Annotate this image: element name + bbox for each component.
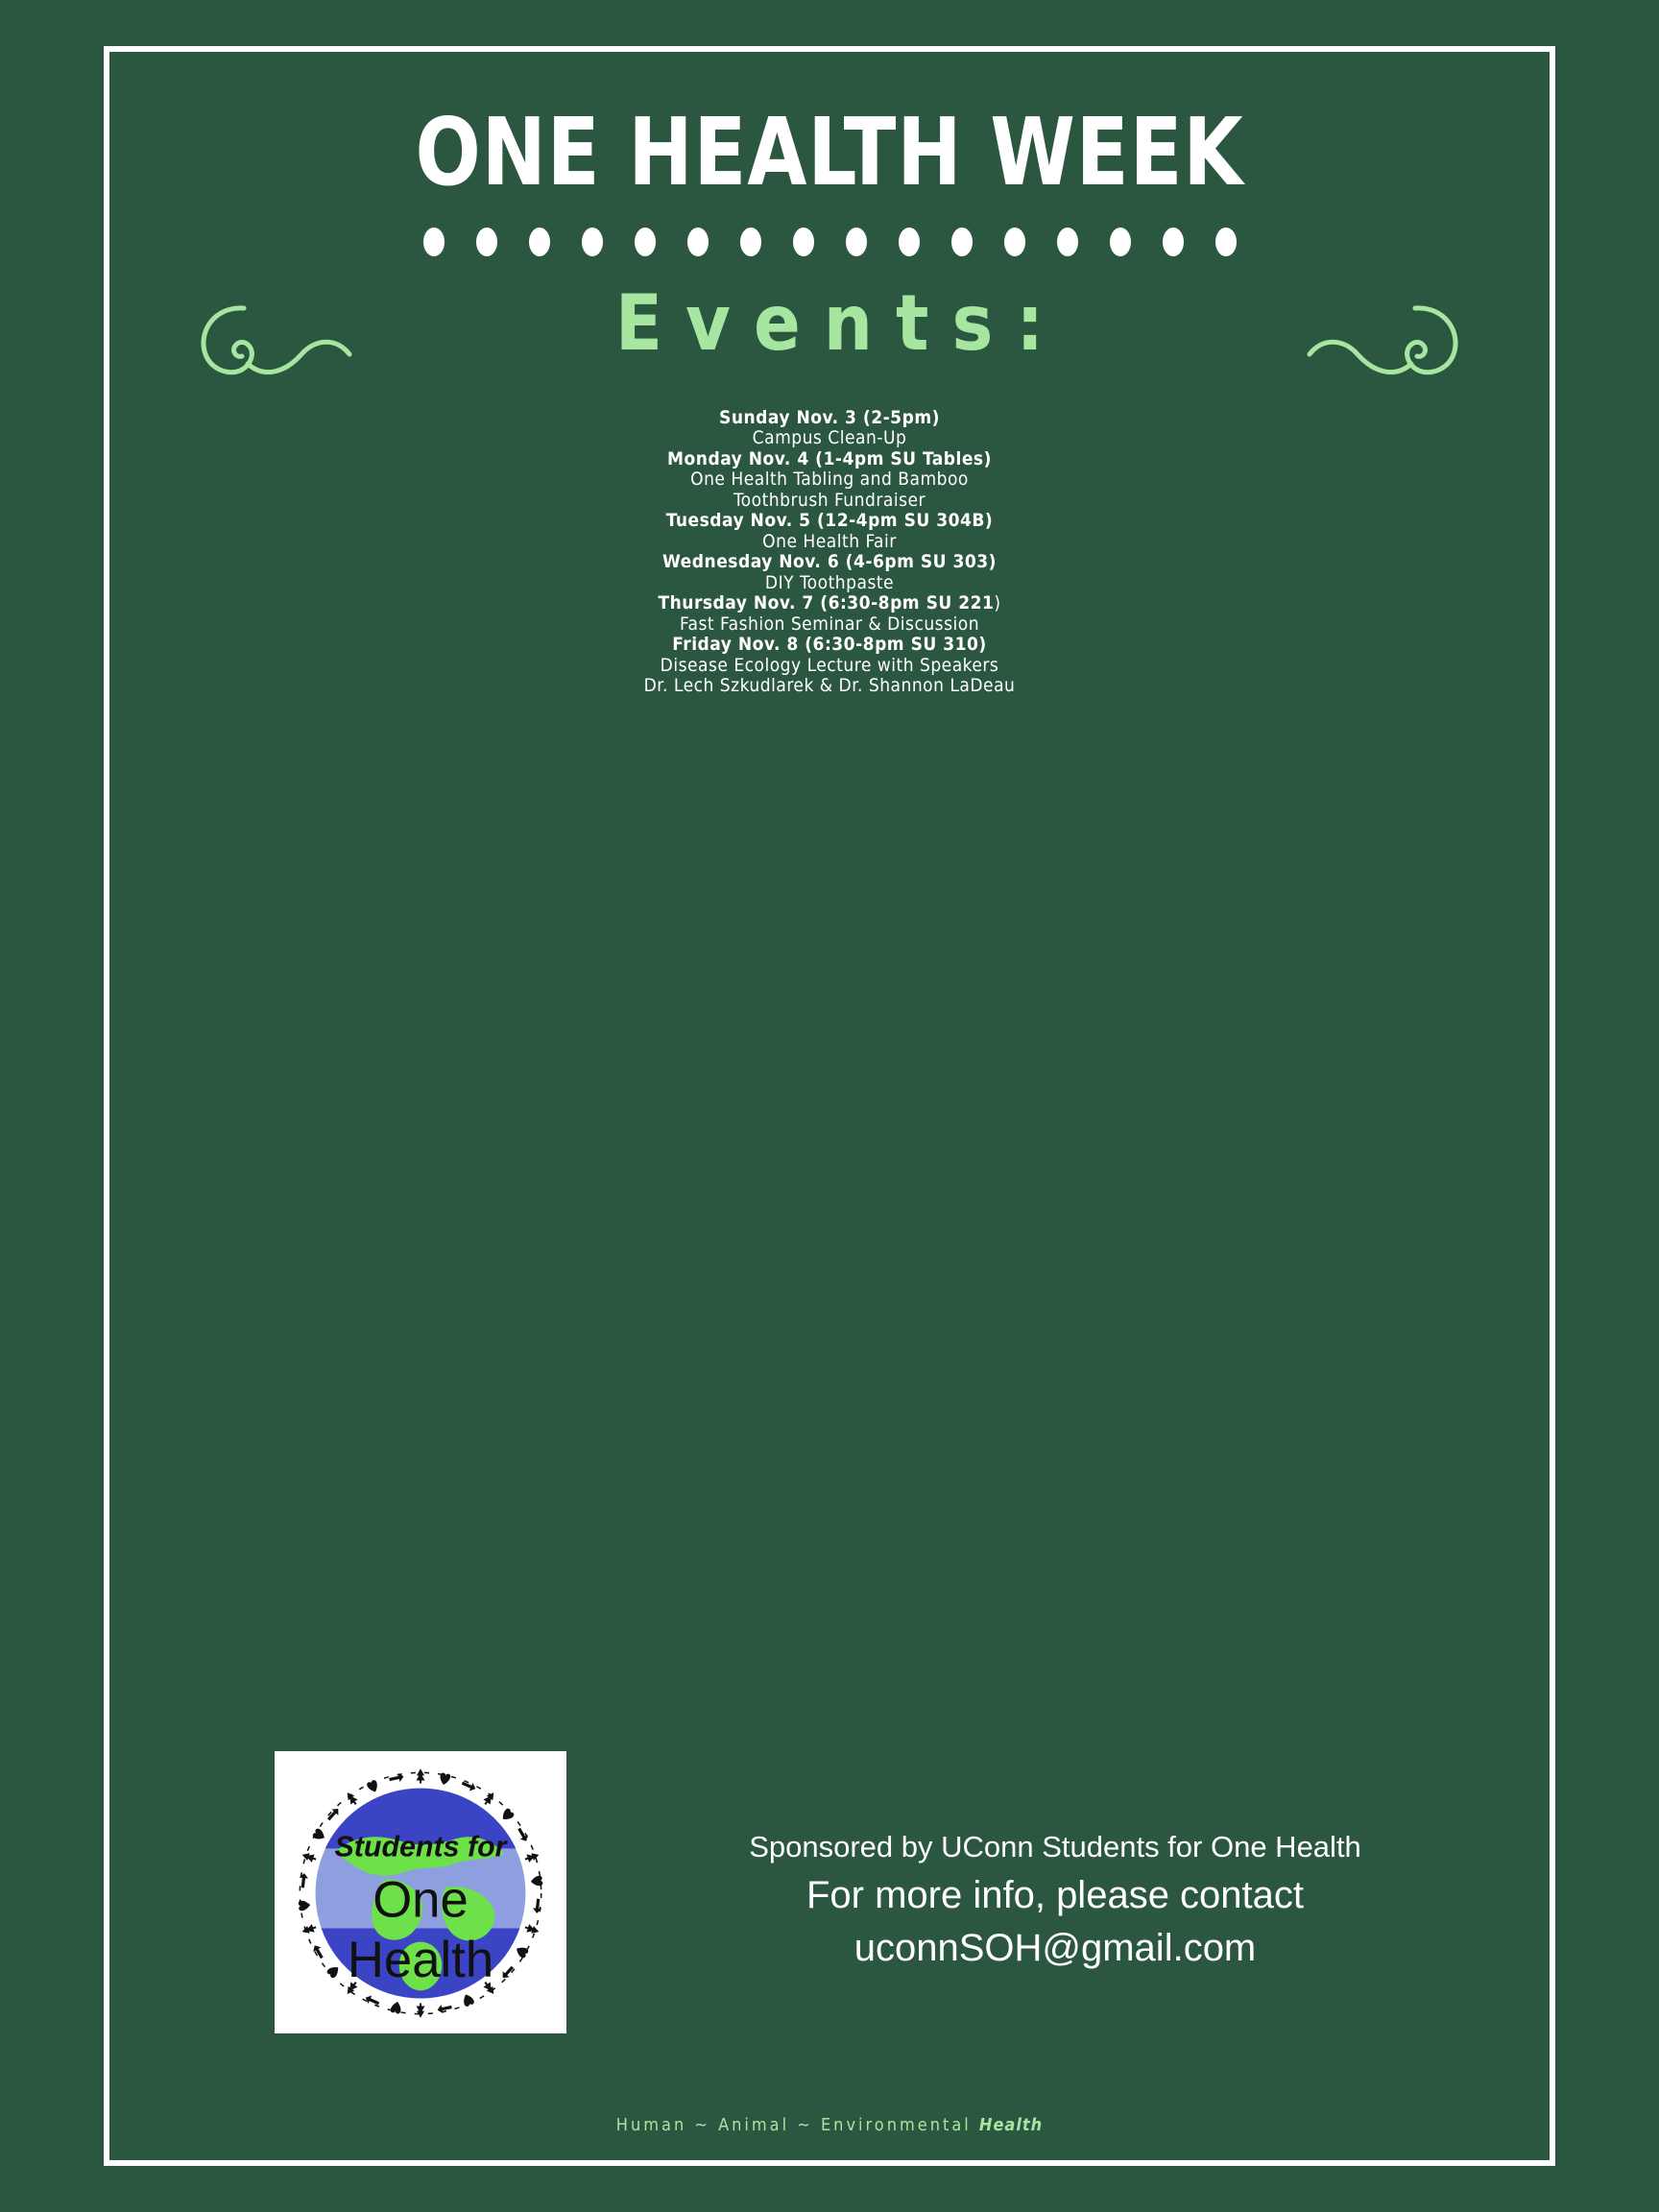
dot-divider-dot [1057,228,1078,256]
event-date-line: Thursday Nov. 7 (6:30-8pm SU 221) [132,593,1527,613]
dot-divider-dot [582,228,603,256]
event-date-line: Tuesday Nov. 5 (12-4pm SU 304B) [132,511,1527,531]
tagline-emphasis: Health [979,2115,1043,2135]
event-description-line: DIY Toothpaste [132,573,1527,593]
events-list: Sunday Nov. 3 (2-5pm)Campus Clean-UpMond… [132,408,1527,697]
contact-info-line: For more info, please contact [584,1869,1527,1922]
contact-block: Sponsored by UConn Students for One Heal… [584,1826,1527,1975]
poster-content: ONE HEALTH WEEK Events: [109,52,1550,2160]
event-description-line: Campus Clean-Up [132,428,1527,448]
dot-divider-dot [846,228,867,256]
event-date-line: Wednesday Nov. 6 (4-6pm SU 303) [132,552,1527,572]
svg-text:Students for: Students for [335,1831,509,1863]
event-date-line: Sunday Nov. 3 (2-5pm) [132,408,1527,428]
swirl-flourish-right-icon [1283,291,1475,387]
dot-divider-dot [635,228,656,256]
event-description-line: Fast Fashion Seminar & Discussion [132,614,1527,635]
dot-divider-dot [1215,228,1237,256]
event-date-line: Monday Nov. 4 (1-4pm SU Tables) [132,449,1527,469]
dot-divider-dot [529,228,550,256]
dot-divider-dot [476,228,497,256]
dot-divider-dot [951,228,973,256]
event-description-line: Dr. Lech Szkudlarek & Dr. Shannon LaDeau [132,676,1527,696]
dot-divider-dot [793,228,814,256]
dot-divider-dot [1163,228,1184,256]
poster-border-frame: ONE HEALTH WEEK Events: [104,46,1555,2166]
footer: Students for One Health Sponsored by UCo… [132,1751,1527,2068]
event-description-line: One Health Fair [132,532,1527,552]
event-date-line: Friday Nov. 8 (6:30-8pm SU 310) [132,635,1527,655]
sponsor-text: Sponsored by UConn Students for One Heal… [584,1826,1527,1869]
svg-text:Health: Health [348,1932,493,1988]
dot-divider-dot [1004,228,1025,256]
contact-email[interactable]: uconnSOH@gmail.com [584,1922,1527,1975]
dot-divider-dot [899,228,920,256]
dot-divider-dot [423,228,445,256]
page-title: ONE HEALTH WEEK [188,106,1471,199]
poster-root: ONE HEALTH WEEK Events: [0,0,1659,2212]
tagline: Human ~ Animal ~ Environmental Health [132,2115,1527,2135]
event-date-suffix: ) [994,592,1000,613]
event-description-line: Disease Ecology Lecture with Speakers [132,656,1527,676]
dot-divider-dot [1110,228,1131,256]
students-for-one-health-globe-logo-icon: Students for One Health [275,1751,566,2033]
events-header: Events: [132,277,1527,391]
event-description-line: Toothbrush Fundraiser [132,491,1527,511]
dot-divider-dot [687,228,709,256]
svg-text:One: One [373,1871,469,1928]
dot-divider-dot [740,228,761,256]
event-description-line: One Health Tabling and Bamboo [132,469,1527,490]
dot-divider [132,228,1527,256]
tagline-prefix: Human ~ Animal ~ Environmental [616,2115,979,2135]
